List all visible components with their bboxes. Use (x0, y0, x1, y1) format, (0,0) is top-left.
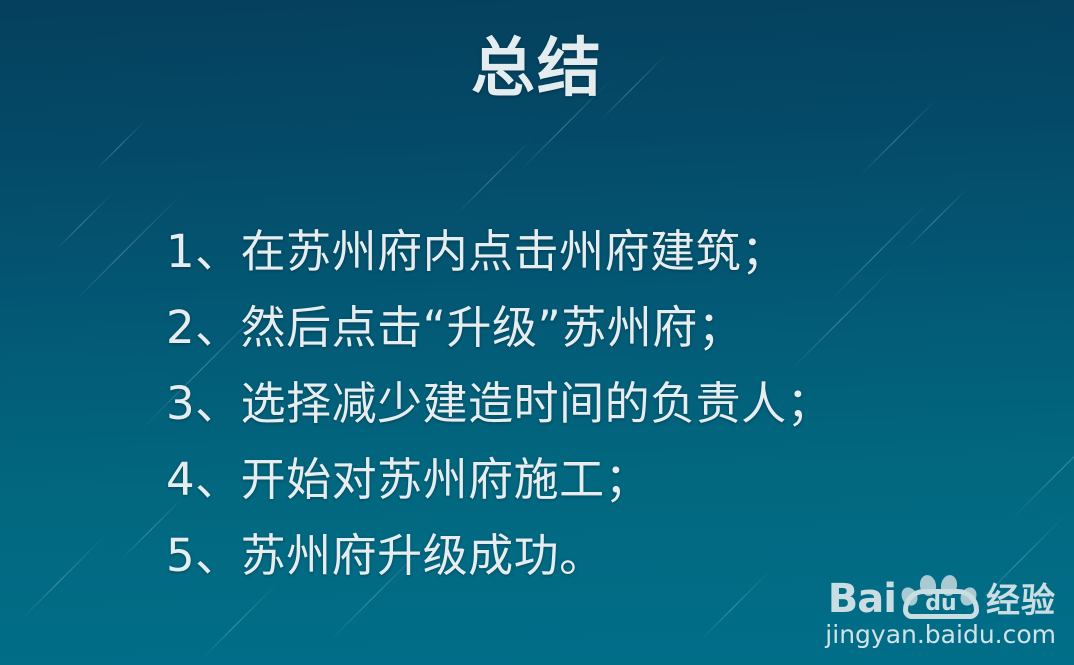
paw-print-icon: du (900, 573, 982, 619)
page-title: 总结 (0, 36, 1074, 103)
slide-canvas: 总结 1、在苏州府内点击州府建筑； 2、然后点击“升级”苏州府； 3、选择减少建… (0, 0, 1074, 665)
baidu-jingyan-text: 经验 (986, 583, 1056, 619)
list-item: 3、选择减少建造时间的负责人； (166, 366, 1026, 442)
baidu-logo: Bai du 经验 (804, 573, 1056, 619)
baidu-watermark: Bai du 经验 jingyan.baidu.com (804, 573, 1056, 649)
steps-list: 1、在苏州府内点击州府建筑； 2、然后点击“升级”苏州府； 3、选择减少建造时间… (166, 214, 1026, 594)
list-item: 2、然后点击“升级”苏州府； (166, 290, 1026, 366)
paw-pad: du (903, 589, 979, 619)
list-item: 1、在苏州府内点击州府建筑； (166, 214, 1026, 290)
watermark-url: jingyan.baidu.com (804, 621, 1056, 649)
baidu-logo-du-text: du (925, 593, 956, 615)
list-item: 4、开始对苏州府施工； (166, 442, 1026, 518)
baidu-logo-text: Bai (828, 579, 896, 619)
